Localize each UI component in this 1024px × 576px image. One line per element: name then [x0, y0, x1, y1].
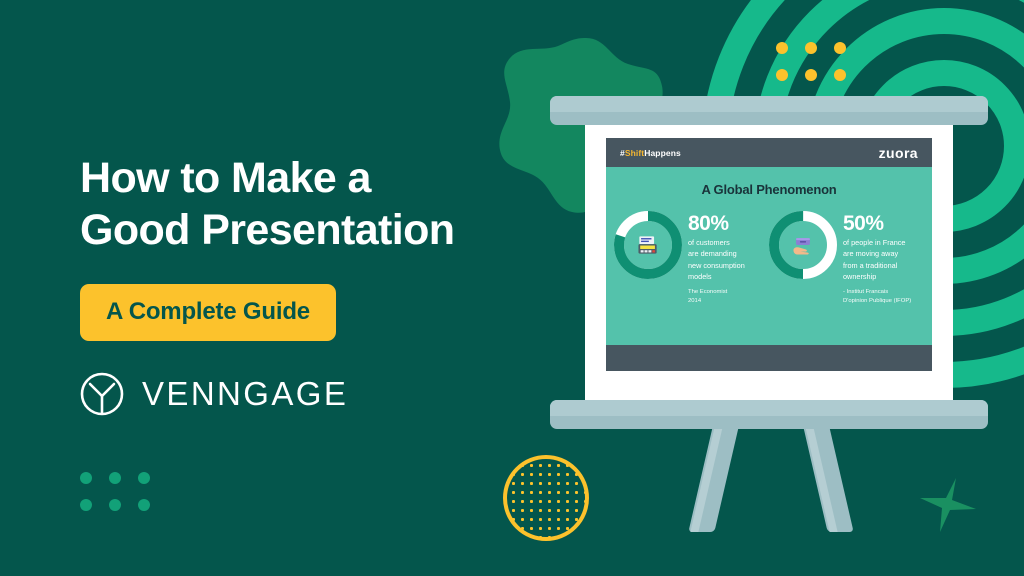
venngage-logo[interactable]: VENNGAGE	[80, 372, 348, 416]
easel-bottom-bar-icon	[550, 400, 988, 429]
headline-line-2: Good Presentation	[80, 204, 550, 256]
complete-guide-button[interactable]: A Complete Guide	[80, 284, 336, 341]
donut-chart-80	[614, 211, 682, 279]
venngage-circle-chevron-icon	[80, 372, 124, 416]
slide-title: A Global Phenomenon	[606, 182, 932, 197]
venngage-wordmark: VENNGAGE	[142, 375, 348, 413]
zuora-logo: zuora	[879, 145, 918, 161]
slide-hashtag: #ShiftHappens	[620, 148, 681, 158]
stat-source: The Economist 2014	[688, 288, 745, 306]
easel-top-bar-icon	[550, 96, 988, 125]
stat-text: 80% of customers are demanding new consu…	[688, 211, 745, 306]
page-title: How to Make a Good Presentation	[80, 152, 550, 257]
stat-percent: 80%	[688, 213, 745, 234]
presentation-slide[interactable]: #ShiftHappens zuora A Global Phenomenon	[606, 138, 932, 371]
dot-grid-green-icon	[80, 472, 150, 511]
easel-board: #ShiftHappens zuora A Global Phenomenon	[585, 105, 953, 404]
hashtag-suffix: Happens	[644, 148, 681, 158]
stat-text: 50% of people in France are moving away …	[843, 211, 911, 306]
stat-block: 80% of customers are demanding new consu…	[614, 211, 769, 306]
headline-line-1: How to Make a	[80, 154, 371, 202]
stat-block: 50% of people in France are moving away …	[769, 211, 924, 306]
easel-left-leg-icon	[688, 414, 741, 532]
easel-right-leg-icon	[800, 414, 853, 532]
slide-stats: 80% of customers are demanding new consu…	[606, 211, 932, 306]
poster-canvas: How to Make a Good Presentation A Comple…	[0, 0, 1024, 576]
slide-footer	[606, 345, 932, 371]
hashtag-highlight: Shift	[625, 148, 644, 158]
pos-terminal-icon	[628, 225, 668, 265]
stat-description: of people in France are moving away from…	[843, 237, 911, 282]
donut-chart-50	[769, 211, 837, 279]
presentation-easel: #ShiftHappens zuora A Global Phenomenon	[532, 96, 1002, 536]
stat-description: of customers are demanding new consumpti…	[688, 237, 745, 282]
stat-percent: 50%	[843, 213, 911, 234]
stat-source: - Institut Francais D'opinion Publique (…	[843, 288, 911, 306]
hand-holding-box-icon	[783, 225, 823, 265]
dot-grid-yellow-icon	[776, 42, 846, 81]
slide-header: #ShiftHappens zuora	[606, 138, 932, 167]
